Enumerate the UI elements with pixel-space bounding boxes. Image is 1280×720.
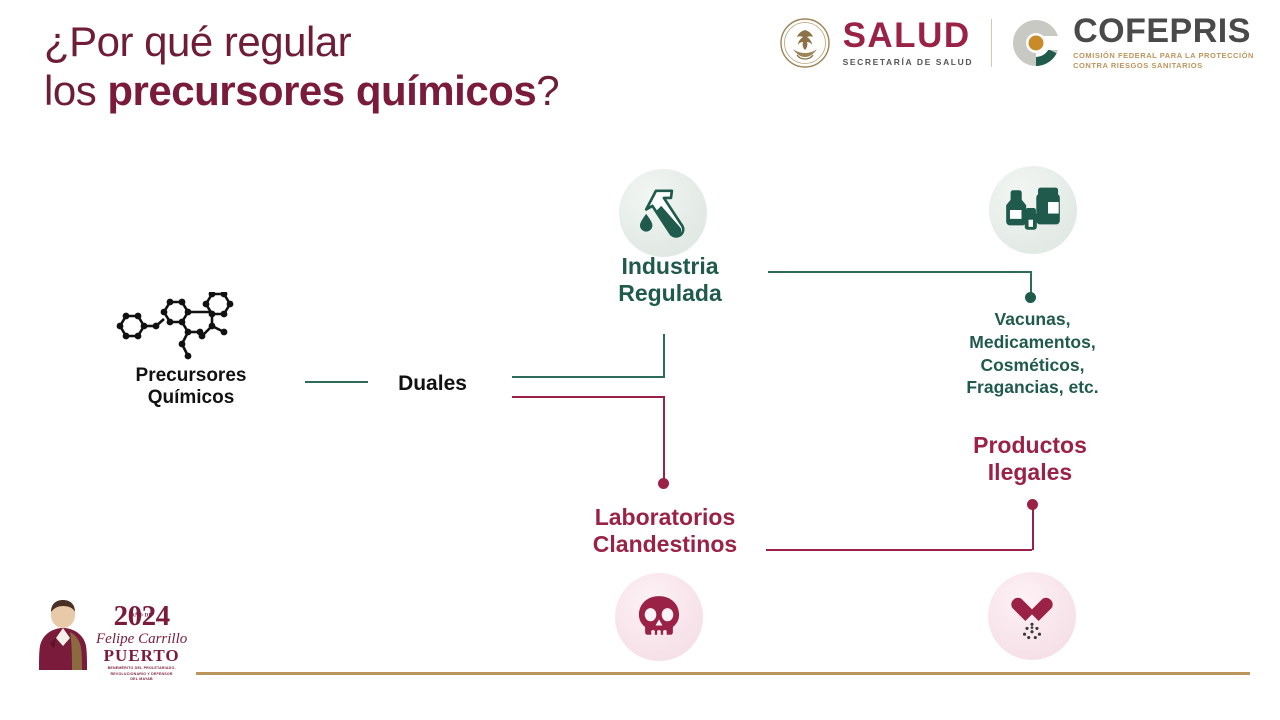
connector-industria-vertical [663, 334, 665, 377]
footer-tagline: BENEMÉRITO DEL PROLETARIADO, REVOLUCIONA… [108, 666, 176, 682]
footer-year-label: AÑO DE [131, 615, 152, 620]
connector-dot-laboratorios [658, 478, 669, 489]
medicine-bottles-icon [989, 166, 1077, 254]
node-label-laboratorios-clandestinos: Laboratorios Clandestinos [540, 504, 790, 558]
node-label-industria-regulada: Industria Regulada [565, 253, 775, 307]
node-label-precursores-line2: Químicos [86, 387, 296, 409]
connector-productos-vertical [1032, 505, 1034, 550]
slide-root: SALUD SECRETARÍA DE SALUD COFEPRIS COMIS… [0, 0, 1280, 720]
node-label-industria-line2: Regulada [565, 280, 775, 307]
node-label-productos-ilegales: Productos Ilegales [930, 432, 1130, 486]
node-label-industria-line1: Industria [565, 253, 775, 280]
node-label-vacunas-line2: Medicamentos, [920, 331, 1145, 354]
test-tube-icon [619, 169, 707, 257]
node-label-productos-line2: Ilegales [930, 459, 1130, 486]
footer-name: Felipe Carrillo [96, 632, 187, 648]
connector-laboratorios-vertical [663, 396, 665, 483]
footer-surname: PUERTO [104, 647, 180, 664]
felipe-carrillo-puerto-text: 2024 AÑO DE Felipe Carrillo PUERTO BENEM… [96, 596, 187, 682]
footer-tagline-line3: DEL MAYAB [130, 677, 152, 681]
node-label-laboratorios-line1: Laboratorios [540, 504, 790, 531]
connector-industria-horizontal [512, 376, 665, 378]
node-label-productos-line1: Productos [930, 432, 1130, 459]
felipe-carrillo-puerto-logo: 2024 AÑO DE Felipe Carrillo PUERTO BENEM… [34, 596, 192, 680]
connector-vacunas-horizontal [768, 271, 1032, 273]
connector-dot-vacunas [1025, 292, 1036, 303]
node-label-vacunas-line3: Cosméticos, [920, 354, 1145, 377]
footer-tagline-line1: BENEMÉRITO DEL PROLETARIADO, [108, 666, 176, 670]
node-label-vacunas-medicamentos: Vacunas, Medicamentos, Cosméticos, Fraga… [920, 308, 1145, 399]
connector-laboratorios-horizontal [512, 396, 665, 398]
felipe-carrillo-puerto-portrait-icon [34, 596, 92, 678]
node-label-precursores-quimicos: Precursores Químicos [86, 365, 296, 410]
node-label-vacunas-line4: Fragancias, etc. [920, 376, 1145, 399]
footer-year: 2024 AÑO DE [114, 603, 170, 631]
spilled-capsule-icon [988, 572, 1076, 660]
node-label-laboratorios-line2: Clandestinos [540, 531, 790, 558]
node-label-vacunas-line1: Vacunas, [920, 308, 1145, 331]
molecule-icon [112, 292, 252, 372]
footer-tagline-line2: REVOLUCIONARIO Y DEFENSOR [111, 672, 173, 676]
connector-dot-productos [1027, 499, 1038, 510]
node-label-precursores-line1: Precursores [86, 365, 296, 387]
node-label-duales: Duales [350, 372, 515, 397]
connector-productos-horizontal [766, 549, 1032, 551]
skull-icon [615, 573, 703, 661]
precursor-flow-diagram: Precursores Químicos Duales Industria Re… [0, 0, 1280, 720]
footer-divider-rule [196, 672, 1250, 675]
